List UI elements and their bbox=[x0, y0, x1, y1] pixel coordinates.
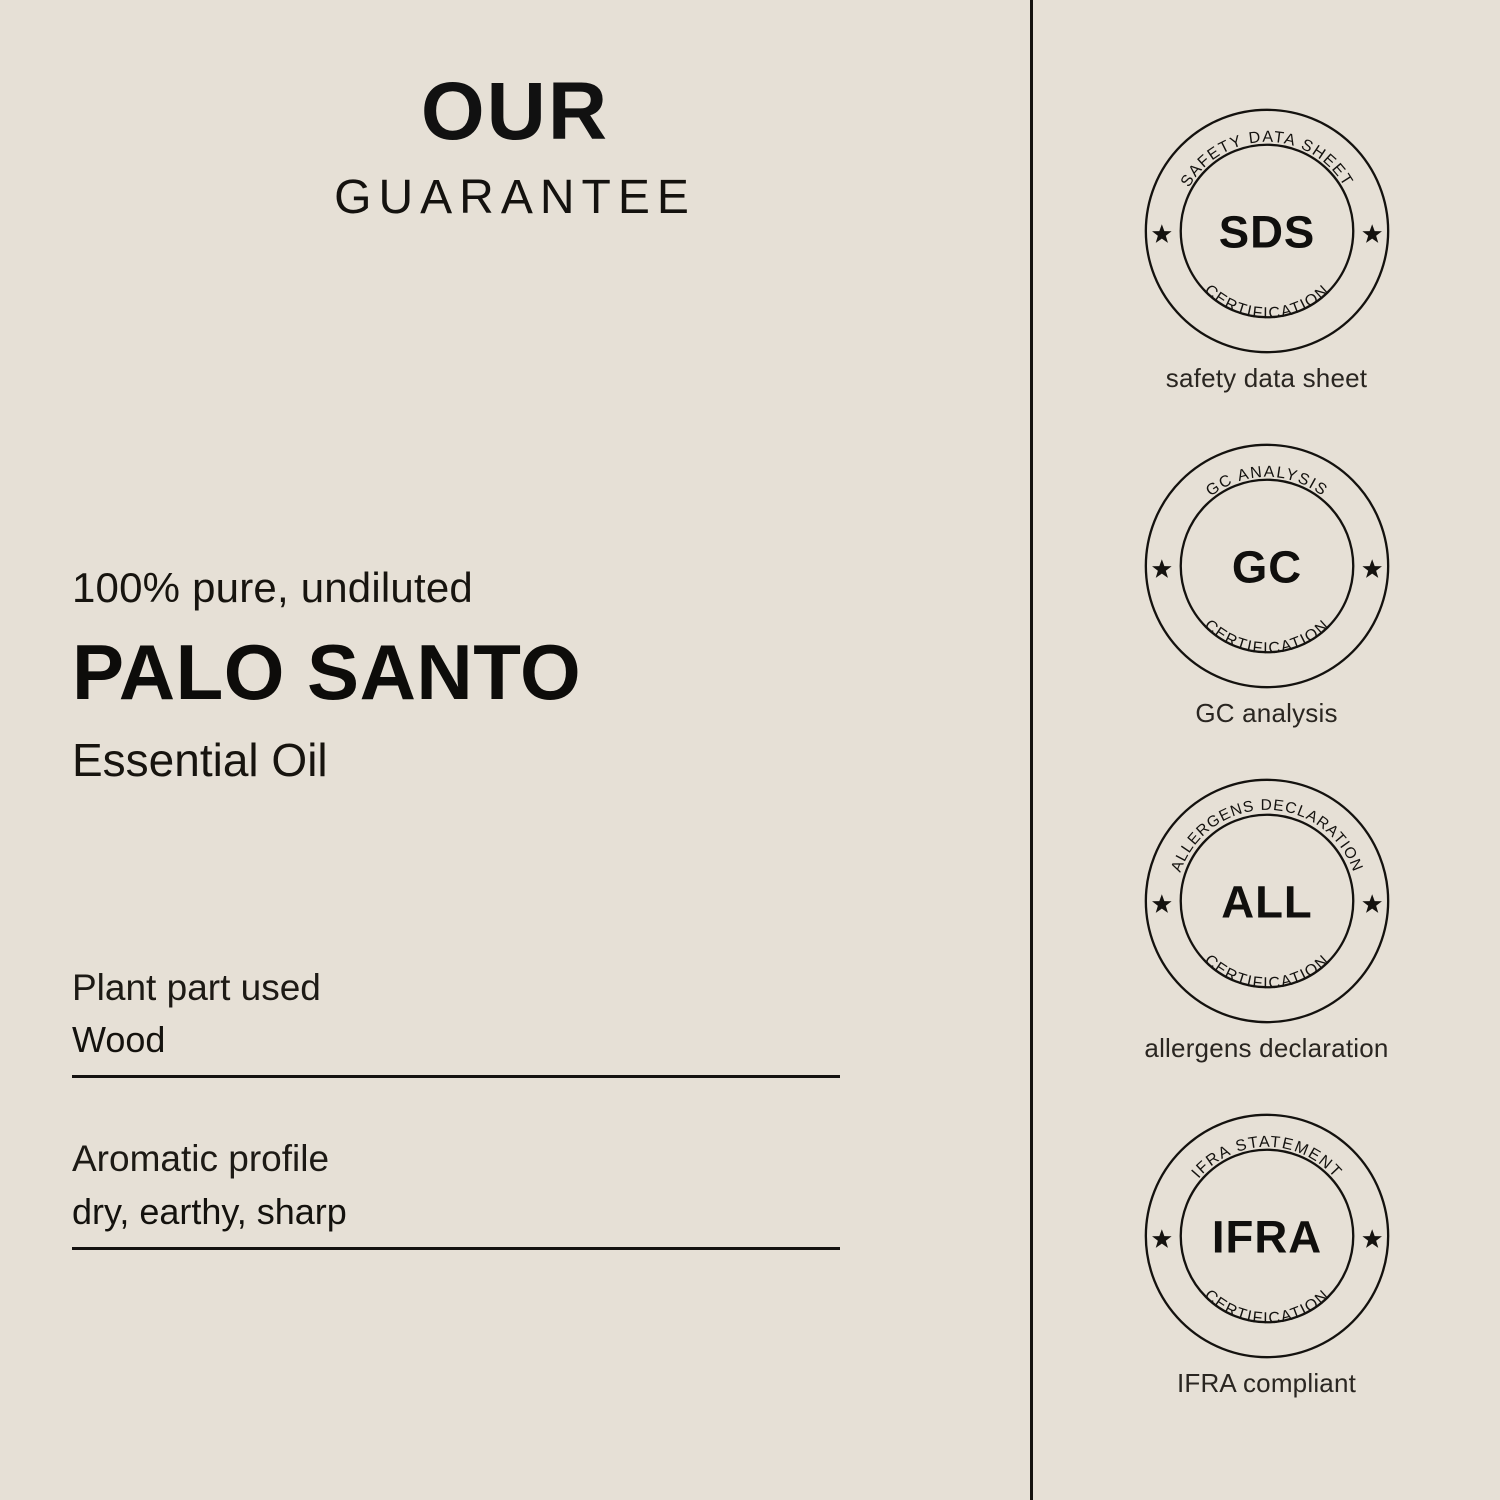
seal-bottom-arc-text: CERTIFICATION bbox=[1200, 617, 1332, 658]
certification-panel: SAFETY DATA SHEET CERTIFICATION SDS safe… bbox=[1033, 0, 1500, 1500]
seal-abbr: IFRA bbox=[1211, 1211, 1321, 1262]
page-title: OUR bbox=[0, 70, 1030, 154]
svg-text:SAFETY DATA SHEET: SAFETY DATA SHEET bbox=[1177, 129, 1355, 190]
spec-row-plant-part: Plant part used Wood bbox=[72, 965, 840, 1078]
guarantee-infographic: OUR GUARANTEE 100% pure, undiluted PALO … bbox=[0, 0, 1500, 1500]
header-block: OUR GUARANTEE bbox=[0, 70, 1030, 225]
product-block: 100% pure, undiluted PALO SANTO Essentia… bbox=[72, 565, 952, 785]
spec-underline bbox=[72, 1247, 840, 1250]
badge-caption: safety data sheet bbox=[1033, 363, 1500, 394]
svg-text:CERTIFICATION: CERTIFICATION bbox=[1200, 1287, 1332, 1328]
seal-top-arc-text: IFRA STATEMENT bbox=[1188, 1134, 1345, 1182]
spec-value: dry, earthy, sharp bbox=[72, 1189, 840, 1234]
copy-panel: OUR GUARANTEE 100% pure, undiluted PALO … bbox=[0, 0, 1030, 1500]
star-right-icon bbox=[1362, 1229, 1382, 1248]
seal-abbr: ALL bbox=[1221, 876, 1312, 927]
spec-label: Aromatic profile bbox=[72, 1136, 840, 1182]
svg-text:CERTIFICATION: CERTIFICATION bbox=[1200, 617, 1332, 658]
badge-item-allergens: ALLERGENS DECLARATION CERTIFICATION ALL … bbox=[1033, 775, 1500, 1064]
star-right-icon bbox=[1362, 894, 1382, 913]
seal-allergens-icon: ALLERGENS DECLARATION CERTIFICATION ALL bbox=[1141, 775, 1393, 1027]
spec-row-aromatic-profile: Aromatic profile dry, earthy, sharp bbox=[72, 1136, 840, 1249]
svg-text:GC ANALYSIS: GC ANALYSIS bbox=[1203, 464, 1331, 500]
star-left-icon bbox=[1152, 224, 1172, 243]
star-right-icon bbox=[1362, 224, 1382, 243]
seal-sds-icon: SAFETY DATA SHEET CERTIFICATION SDS bbox=[1141, 105, 1393, 357]
badge-caption: IFRA compliant bbox=[1033, 1368, 1500, 1399]
seal-gc-icon: GC ANALYSIS CERTIFICATION GC bbox=[1141, 440, 1393, 692]
badge-item-sds: SAFETY DATA SHEET CERTIFICATION SDS safe… bbox=[1033, 105, 1500, 394]
product-name: PALO SANTO bbox=[72, 633, 952, 713]
seal-bottom-arc-text: CERTIFICATION bbox=[1200, 1287, 1332, 1328]
svg-text:ALLERGENS DECLARATION: ALLERGENS DECLARATION bbox=[1168, 797, 1366, 875]
badge-item-gc: GC ANALYSIS CERTIFICATION GC GC analysis bbox=[1033, 440, 1500, 729]
star-left-icon bbox=[1152, 1229, 1172, 1248]
seal-ifra-icon: IFRA STATEMENT CERTIFICATION IFRA bbox=[1141, 1110, 1393, 1362]
badge-item-ifra: IFRA STATEMENT CERTIFICATION IFRA IFRA c… bbox=[1033, 1110, 1500, 1399]
star-right-icon bbox=[1362, 559, 1382, 578]
seal-top-arc-text: ALLERGENS DECLARATION bbox=[1168, 797, 1366, 875]
spec-value: Wood bbox=[72, 1017, 840, 1062]
seal-top-arc-text: GC ANALYSIS bbox=[1203, 464, 1331, 500]
spec-underline bbox=[72, 1075, 840, 1078]
svg-text:CERTIFICATION: CERTIFICATION bbox=[1200, 282, 1332, 323]
spec-list: Plant part used Wood Aromatic profile dr… bbox=[72, 965, 840, 1250]
product-type: Essential Oil bbox=[72, 735, 952, 786]
badge-caption: GC analysis bbox=[1033, 698, 1500, 729]
star-left-icon bbox=[1152, 559, 1172, 578]
seal-top-arc-text: SAFETY DATA SHEET bbox=[1177, 129, 1355, 190]
product-purity-text: 100% pure, undiluted bbox=[72, 565, 952, 611]
spec-label: Plant part used bbox=[72, 965, 840, 1011]
badge-caption: allergens declaration bbox=[1033, 1033, 1500, 1064]
svg-text:IFRA STATEMENT: IFRA STATEMENT bbox=[1188, 1134, 1345, 1182]
seal-bottom-arc-text: CERTIFICATION bbox=[1200, 282, 1332, 323]
seal-bottom-arc-text: CERTIFICATION bbox=[1200, 952, 1332, 993]
svg-text:CERTIFICATION: CERTIFICATION bbox=[1200, 952, 1332, 993]
page-subtitle: GUARANTEE bbox=[0, 170, 1030, 225]
seal-abbr: GC bbox=[1231, 541, 1301, 592]
seal-abbr: SDS bbox=[1218, 206, 1315, 257]
star-left-icon bbox=[1152, 894, 1172, 913]
